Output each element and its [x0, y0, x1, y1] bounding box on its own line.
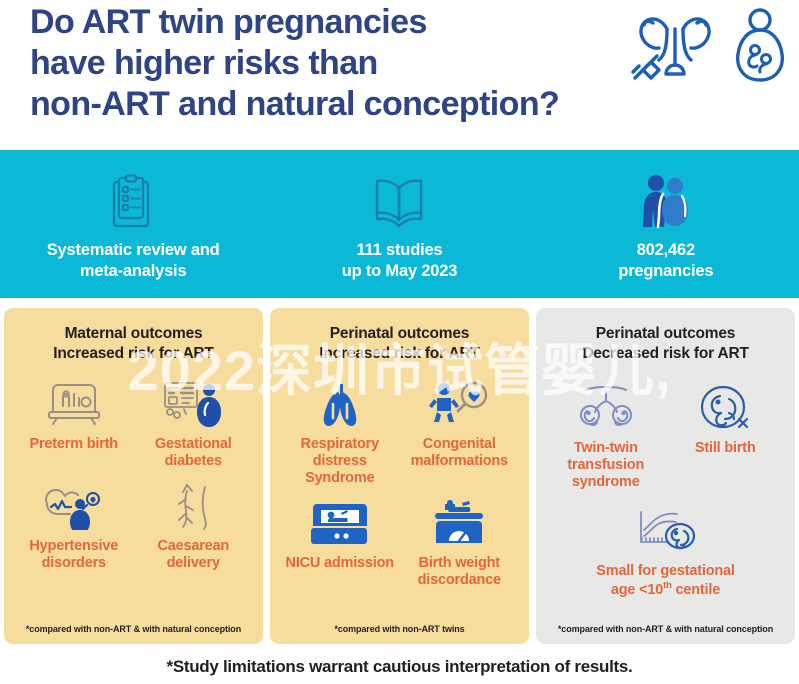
panel-perinatal-decreased-heading: Perinatal outcomesDecreased risk for ART [546, 324, 785, 366]
open-book-icon [370, 173, 428, 231]
panel-maternal-footnote: *compared with non-ART & with natural co… [14, 624, 253, 636]
panel-perinatal-increased-items: Respiratory distressSyndrome [280, 372, 519, 624]
outcome-panels: Maternal outcomesIncreased risk for ART … [4, 308, 795, 644]
outcome-item: Congenitalmalformations [400, 372, 520, 491]
outcome-label: Twin-twintransfusionsyndrome [567, 440, 644, 491]
caesarean-scar-icon [165, 480, 221, 532]
outcome-item: Caesareandelivery [134, 474, 254, 576]
outcome-label: Still birth [695, 440, 756, 457]
baby-weighing-scale-icon [429, 497, 489, 549]
outcome-item: Hypertensivedisorders [14, 474, 134, 576]
page-title-line-2: have higher risks than [30, 43, 610, 84]
panel-maternal-items: Preterm birth [14, 372, 253, 624]
clipboard-checklist-icon [107, 173, 159, 231]
outcome-label: Congenitalmalformations [411, 436, 508, 470]
header-icon-group [604, 6, 789, 92]
panel-perinatal-decreased-footnote: *compared with non-ART & with natural co… [546, 624, 785, 636]
outcome-item: Gestationaldiabetes [134, 372, 254, 474]
stats-band: Systematic review andmeta-analysis 111 s… [0, 150, 799, 298]
panel-perinatal-increased-heading: Perinatal outcomesIncreased risk for ART [280, 324, 519, 366]
outcome-label: Caesareandelivery [157, 538, 229, 572]
outcome-item: Birth weightdiscordance [400, 491, 520, 593]
outcome-label-line-2: age <10 [611, 582, 663, 598]
lungs-icon [309, 378, 371, 430]
stat-studies: 111 studiesup to May 2023 [266, 150, 532, 298]
panel-perinatal-increased: Perinatal outcomesIncreased risk for ART… [270, 308, 529, 644]
outcome-label: Hypertensivedisorders [29, 538, 118, 572]
stat-pregnancies: 802,462pregnancies [533, 150, 799, 298]
panel-perinatal-increased-footnote: *compared with non-ART twins [280, 624, 519, 636]
glucose-monitor-pregnant-icon [160, 378, 226, 430]
pregnant-woman-twins-icon [731, 7, 789, 92]
footer: *Study limitations warrant cautious inte… [0, 650, 799, 684]
outcome-label: Respiratory distressSyndrome [282, 436, 398, 487]
growth-chart-fetus-icon [627, 505, 705, 557]
stat-pregnancies-label: 802,462pregnancies [618, 240, 713, 280]
baby-magnifier-heart-icon [426, 378, 492, 430]
page-title-line-1: Do ART twin pregnancies [30, 2, 610, 43]
outcome-label-line-3: centile [672, 582, 720, 598]
two-pregnant-women-icon [637, 173, 695, 231]
uterus-syringe-icon [627, 7, 723, 92]
blood-pressure-pregnant-icon [39, 480, 109, 532]
outcome-label: Gestationaldiabetes [155, 436, 232, 470]
fetus-cross-icon [696, 382, 754, 434]
outcome-item: Twin-twintransfusionsyndrome [546, 372, 666, 495]
outcome-label-line-1: Small for gestational [596, 563, 734, 579]
panel-maternal-increased: Maternal outcomesIncreased risk for ART … [4, 308, 263, 644]
nicu-incubator-icon [307, 497, 373, 549]
outcome-item: NICU admission [280, 491, 400, 593]
outcome-label: Birth weightdiscordance [418, 555, 501, 589]
study-limitations-note: *Study limitations warrant cautious inte… [167, 657, 633, 677]
panel-perinatal-decreased-items: Twin-twintransfusionsyndrome Still birth [546, 372, 785, 624]
page-title: Do ART twin pregnancies have higher risk… [30, 2, 610, 124]
outcome-label-superscript: th [663, 580, 672, 591]
stat-systematic-review-label: Systematic review andmeta-analysis [47, 240, 220, 280]
twin-fetuses-shared-placenta-icon [570, 382, 642, 434]
panel-maternal-heading: Maternal outcomesIncreased risk for ART [14, 324, 253, 366]
header: Do ART twin pregnancies have higher risk… [0, 0, 799, 150]
panel-perinatal-decreased: Perinatal outcomesDecreased risk for ART [536, 308, 795, 644]
stat-systematic-review: Systematic review andmeta-analysis [0, 150, 266, 298]
stat-studies-label: 111 studiesup to May 2023 [342, 240, 458, 280]
outcome-label: Preterm birth [30, 436, 118, 453]
outcome-item: Still birth [666, 372, 786, 495]
outcome-item: Respiratory distressSyndrome [280, 372, 400, 491]
incubator-icon [43, 378, 105, 430]
page-title-line-3: non-ART and natural conception? [30, 84, 610, 125]
outcome-item: Small for gestational age <10th centile [546, 495, 785, 603]
outcome-label: NICU admission [286, 555, 394, 572]
outcome-label: Small for gestational age <10th centile [596, 563, 734, 599]
outcome-item: Preterm birth [14, 372, 134, 474]
